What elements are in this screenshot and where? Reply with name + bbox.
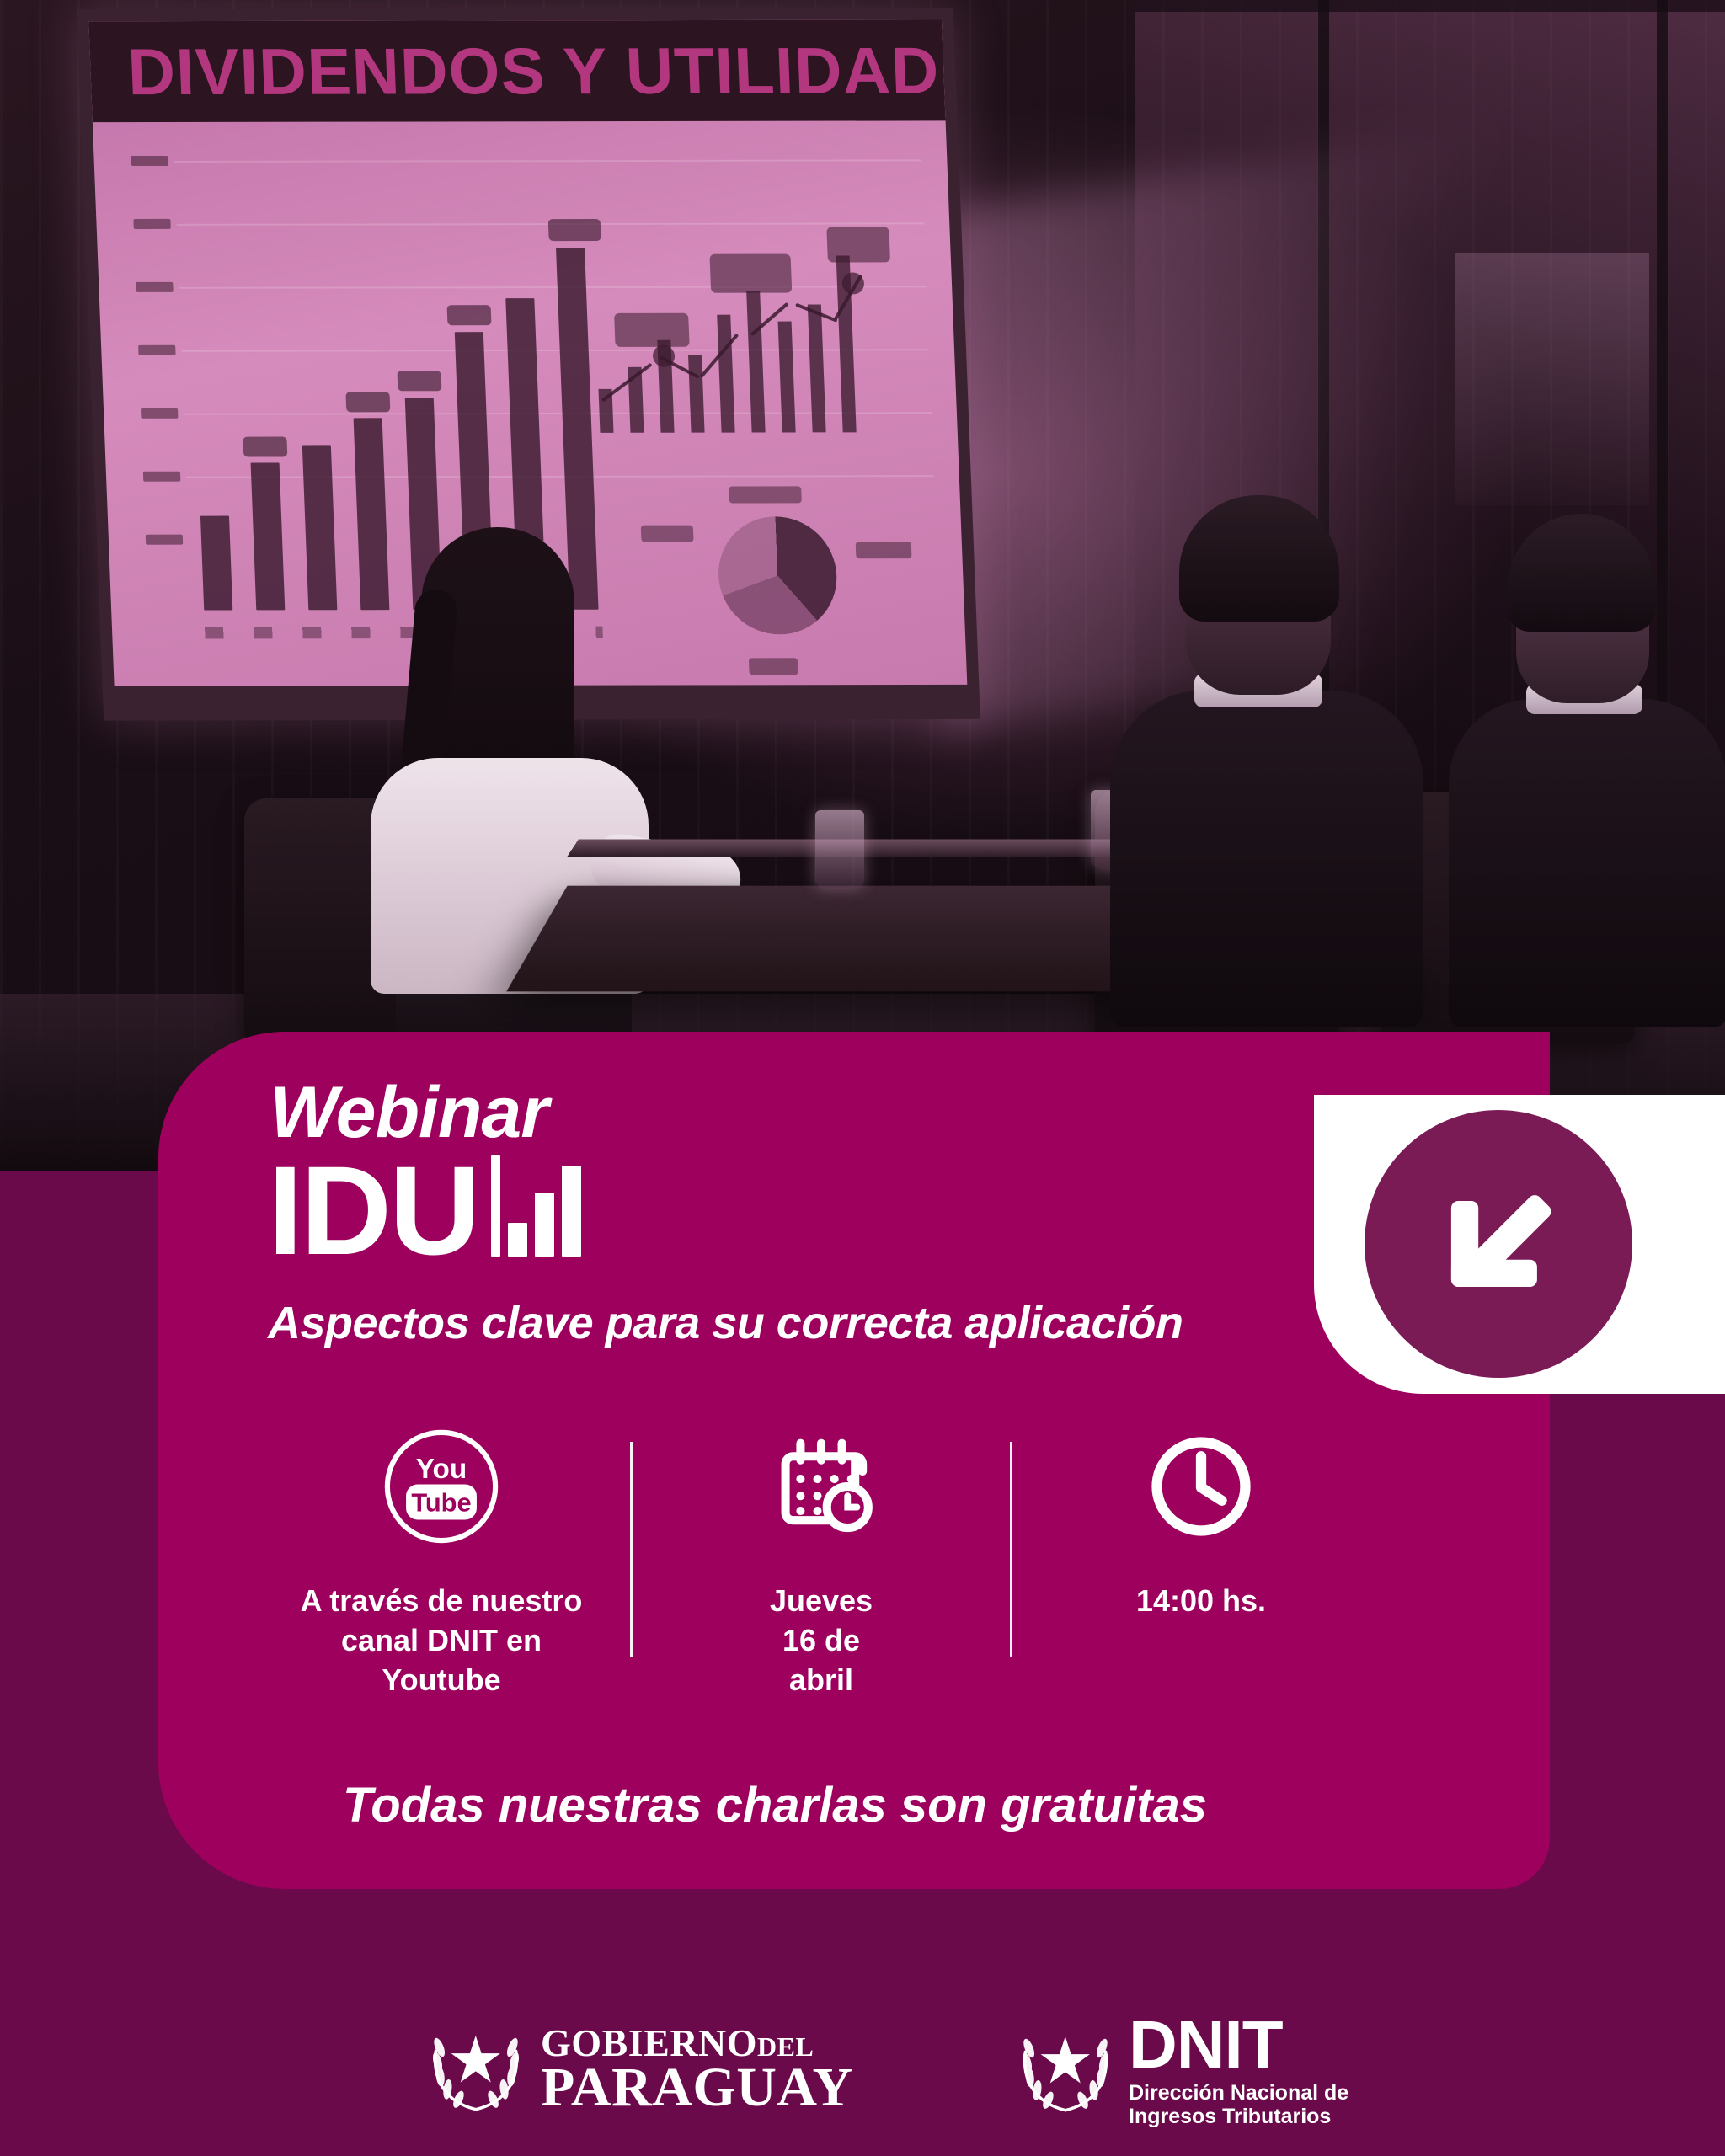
page-subtitle: Aspectos clave para su correcta aplicaci… — [268, 1297, 1183, 1349]
svg-text:You: You — [416, 1454, 467, 1485]
slide-title-bar: DIVIDENDOS Y UTILIDADES — [88, 19, 945, 122]
calendar-clock-icon — [765, 1423, 878, 1550]
dnit-logo: DNIT Dirección Nacional de Ingresos Trib… — [1011, 2011, 1348, 2128]
arrow-badge[interactable] — [1365, 1110, 1632, 1378]
youtube-icon: You Tube — [379, 1423, 504, 1550]
info-item-label: Jueves 16 de abril — [770, 1582, 873, 1700]
laurel-wreath-star-icon — [1011, 2015, 1120, 2125]
dnit-line2: Ingresos Tributarios — [1129, 2105, 1348, 2128]
column-divider — [630, 1442, 633, 1657]
column-divider — [1010, 1442, 1012, 1657]
gov-line2: PARAGUAY — [541, 2062, 853, 2115]
svg-text:Tube: Tube — [411, 1488, 471, 1518]
laurel-wreath-star-icon — [421, 2015, 531, 2124]
dnit-line1: Dirección Nacional de — [1129, 2081, 1348, 2105]
footer-logos: GOBIERNODEL PARAGUAY — [0, 2004, 1725, 2156]
water-glass — [815, 810, 864, 888]
slide-pie-chart — [716, 516, 838, 634]
arrow-down-left-icon — [1427, 1172, 1570, 1315]
window-mullion-horizontal — [1135, 0, 1725, 12]
dnit-logo-text: DNIT Dirección Nacional de Ingresos Trib… — [1129, 2011, 1348, 2128]
info-item-time: 14:00 hs. — [1012, 1423, 1390, 1621]
gobierno-paraguay-logo: GOBIERNODEL PARAGUAY — [421, 2015, 853, 2124]
dnit-acronym: DNIT — [1129, 2011, 1348, 2079]
info-item-date: Jueves 16 de abril — [633, 1423, 1010, 1700]
slide-combo-chart — [570, 146, 937, 466]
gov-logo-text: GOBIERNODEL PARAGUAY — [541, 2025, 853, 2114]
info-item-label: A través de nuestro canal DNIT en Youtub… — [301, 1582, 583, 1700]
tagline: Todas nuestras charlas son gratuitas — [0, 1777, 1550, 1833]
page-title: IDU — [268, 1152, 478, 1268]
info-item-label: 14:00 hs. — [1136, 1582, 1266, 1621]
clock-icon — [1145, 1423, 1258, 1550]
info-item-youtube: You Tube A través de nuestro canal DNIT … — [253, 1423, 630, 1700]
hero-photo: DIVIDENDOS Y UTILIDADES — [0, 0, 1725, 1171]
bar-chart-icon — [491, 1155, 581, 1257]
info-columns: You Tube A través de nuestro canal DNIT … — [253, 1423, 1390, 1743]
slide-title: DIVIDENDOS Y UTILIDADES — [89, 32, 967, 110]
idu-title-row: IDU — [268, 1152, 581, 1268]
